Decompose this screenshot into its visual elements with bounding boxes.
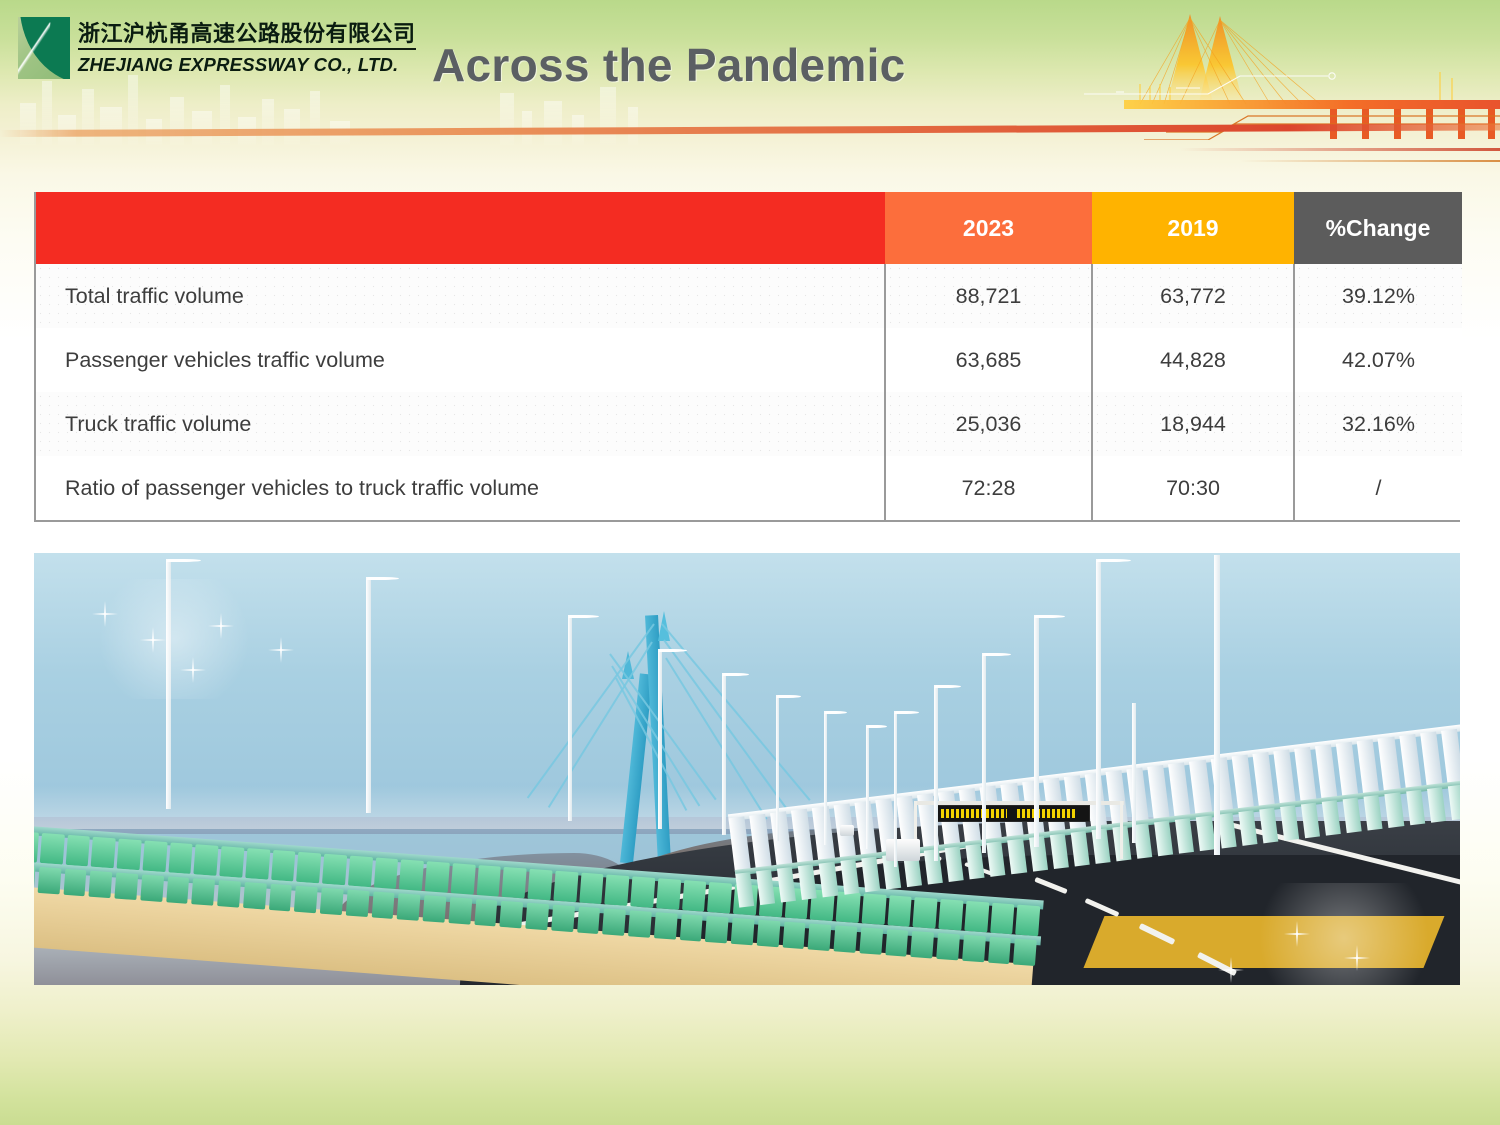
row-label: Ratio of passenger vehicles to truck tra…	[36, 456, 885, 520]
company-name-cn: 浙江沪杭甬高速公路股份有限公司	[78, 22, 416, 50]
company-logo-text: 浙江沪杭甬高速公路股份有限公司 ZHEJIANG EXPRESSWAY CO.,…	[78, 22, 378, 76]
expressway-road-logo-icon	[18, 17, 70, 79]
page-title: Across the Pandemic	[432, 38, 906, 92]
row-label: Truck traffic volume	[36, 392, 885, 456]
bridge-pylon	[596, 613, 706, 863]
vehicle	[840, 825, 854, 836]
table-row: Truck traffic volume 25,036 18,944 32.16…	[36, 392, 1462, 456]
row-value-change: 42.07%	[1294, 328, 1462, 392]
table-row: Ratio of passenger vehicles to truck tra…	[36, 456, 1462, 520]
row-value-2023: 63,685	[885, 328, 1092, 392]
vehicle	[886, 839, 920, 861]
row-value-2023: 25,036	[885, 392, 1092, 456]
sparkle-icon	[104, 601, 106, 627]
row-value-2023: 88,721	[885, 264, 1092, 328]
sparkle-icon	[1356, 945, 1358, 971]
slide-header: 浙江沪杭甬高速公路股份有限公司 ZHEJIANG EXPRESSWAY CO.,…	[0, 0, 1500, 140]
row-value-2023: 72:28	[885, 456, 1092, 520]
row-value-change: 39.12%	[1294, 264, 1462, 328]
row-value-2019: 70:30	[1092, 456, 1294, 520]
row-value-change: 32.16%	[1294, 392, 1462, 456]
row-value-2019: 18,944	[1092, 392, 1294, 456]
row-label: Passenger vehicles traffic volume	[36, 328, 885, 392]
sparkle-icon	[1296, 921, 1298, 947]
row-value-2019: 63,772	[1092, 264, 1294, 328]
sparkle-icon	[1230, 957, 1232, 983]
expressway-bridge-photo	[34, 553, 1460, 985]
table-header-2023: 2023	[885, 192, 1092, 264]
bridge-outline-graphic	[1080, 0, 1500, 140]
table-header-blank	[36, 192, 885, 264]
table-header-change: %Change	[1294, 192, 1462, 264]
header-accent-line-2	[1180, 148, 1500, 151]
company-name-en: ZHEJIANG EXPRESSWAY CO., LTD.	[78, 54, 378, 76]
header-accent-line-3	[1240, 160, 1500, 162]
row-label: Total traffic volume	[36, 264, 885, 328]
row-value-2019: 44,828	[1092, 328, 1294, 392]
overhead-gantry-sign	[914, 801, 1124, 859]
table-row: Total traffic volume 88,721 63,772 39.12…	[36, 264, 1462, 328]
sparkle-icon	[280, 637, 282, 663]
traffic-statistics-table: 2023 2019 %Change Total traffic volume 8…	[34, 192, 1460, 522]
sparkle-icon	[152, 627, 154, 653]
table-row: Passenger vehicles traffic volume 63,685…	[36, 328, 1462, 392]
row-value-change: /	[1294, 456, 1462, 520]
table-header-row: 2023 2019 %Change	[36, 192, 1462, 264]
table-header-2019: 2019	[1092, 192, 1294, 264]
sparkle-icon	[192, 657, 194, 683]
slide-canvas: 浙江沪杭甬高速公路股份有限公司 ZHEJIANG EXPRESSWAY CO.,…	[0, 0, 1500, 1125]
sparkle-icon	[220, 613, 222, 639]
